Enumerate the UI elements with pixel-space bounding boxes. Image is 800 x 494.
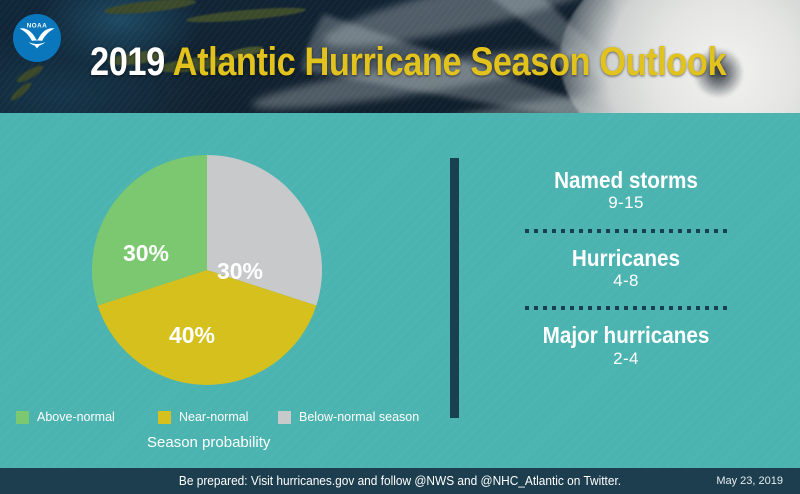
stat-value-named-storms: 9-15 <box>470 192 782 213</box>
legend-label-above-normal: Above-normal <box>37 410 115 424</box>
season-probability-pie-chart: 30% 40% 30% <box>92 155 322 385</box>
pie-label-near-normal: 40% <box>169 322 215 348</box>
hurricane-outlook-infographic: NOAA 2019 Atlantic Hurricane Season Outl… <box>0 0 800 494</box>
stat-value-major-hurricanes: 2-4 <box>470 348 782 369</box>
header-banner: NOAA 2019 Atlantic Hurricane Season Outl… <box>0 0 800 113</box>
noaa-logo: NOAA <box>12 13 62 63</box>
legend-item-near-normal[interactable]: Near-normal <box>158 406 248 428</box>
vertical-divider <box>450 158 459 418</box>
page-title-year: 2019 <box>90 40 165 84</box>
footer-date: May 23, 2019 <box>716 468 783 494</box>
stat-value-hurricanes: 4-8 <box>470 270 782 291</box>
legend-item-below-normal[interactable]: Below-normal season <box>278 406 419 428</box>
page-title-rest: Atlantic Hurricane Season Outlook <box>165 40 726 84</box>
stat-title-named-storms: Named storms <box>486 168 767 192</box>
legend-label-below-normal: Below-normal season <box>299 410 419 424</box>
legend-swatch-near-normal <box>158 411 171 424</box>
pie-label-above-normal: 30% <box>123 240 169 266</box>
pie-label-below-normal: 30% <box>217 258 263 284</box>
dotted-separator <box>525 229 728 233</box>
chart-caption: Season probability <box>147 434 270 451</box>
noaa-logo-text: NOAA <box>27 23 48 30</box>
legend-item-above-normal[interactable]: Above-normal <box>16 406 115 428</box>
chart-legend: Above-normal Near-normal Below-normal se… <box>16 406 446 428</box>
stat-major-hurricanes: Major hurricanes 2-4 <box>470 323 782 369</box>
legend-swatch-below-normal <box>278 411 291 424</box>
stat-title-major-hurricanes: Major hurricanes <box>486 323 767 347</box>
footer-message: Be prepared: Visit hurricanes.gov and fo… <box>20 468 780 494</box>
legend-swatch-above-normal <box>16 411 29 424</box>
stat-named-storms: Named storms 9-15 <box>470 168 782 214</box>
legend-label-near-normal: Near-normal <box>179 410 248 424</box>
forecast-stats-panel: Named storms 9-15 Hurricanes 4-8 Major h… <box>470 168 782 369</box>
stat-hurricanes: Hurricanes 4-8 <box>470 246 782 292</box>
footer-bar: Be prepared: Visit hurricanes.gov and fo… <box>0 468 800 494</box>
dotted-separator <box>525 306 728 310</box>
page-title: 2019 Atlantic Hurricane Season Outlook <box>90 42 726 82</box>
stat-title-hurricanes: Hurricanes <box>486 246 767 270</box>
